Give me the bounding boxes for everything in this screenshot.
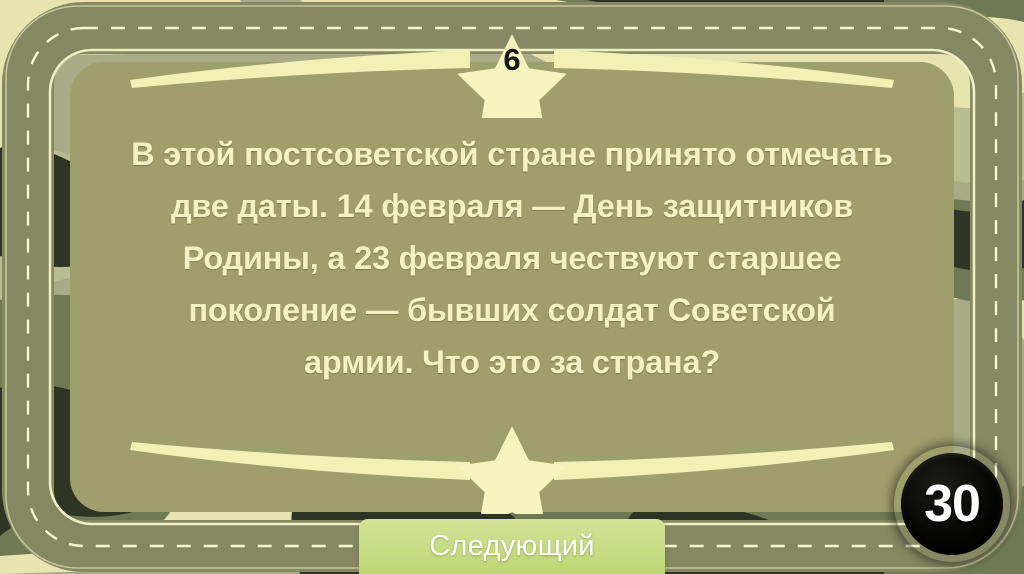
timer-face: 30	[901, 453, 1003, 555]
next-button[interactable]: Следующий	[359, 519, 665, 574]
countdown-timer[interactable]: 30	[894, 446, 1010, 562]
quiz-slide: 6 В этой постсоветской стране принято от…	[0, 0, 1024, 574]
timer-value: 30	[924, 478, 980, 530]
star-icon	[457, 426, 566, 514]
question-number: 6	[0, 44, 1024, 75]
bottom-ornament	[0, 424, 1024, 514]
question-line: В этой постсоветской стране принято отме…	[62, 128, 962, 180]
question-line: Родины, а 23 февраля чествуют старшее	[62, 232, 962, 284]
question-line: поколение — бывших солдат Советской	[62, 284, 962, 336]
question-line: армии. Что это за страна?	[62, 336, 962, 388]
question-line: две даты. 14 февраля — День защитников	[62, 180, 962, 232]
question-text: В этой постсоветской стране принято отме…	[62, 128, 962, 388]
